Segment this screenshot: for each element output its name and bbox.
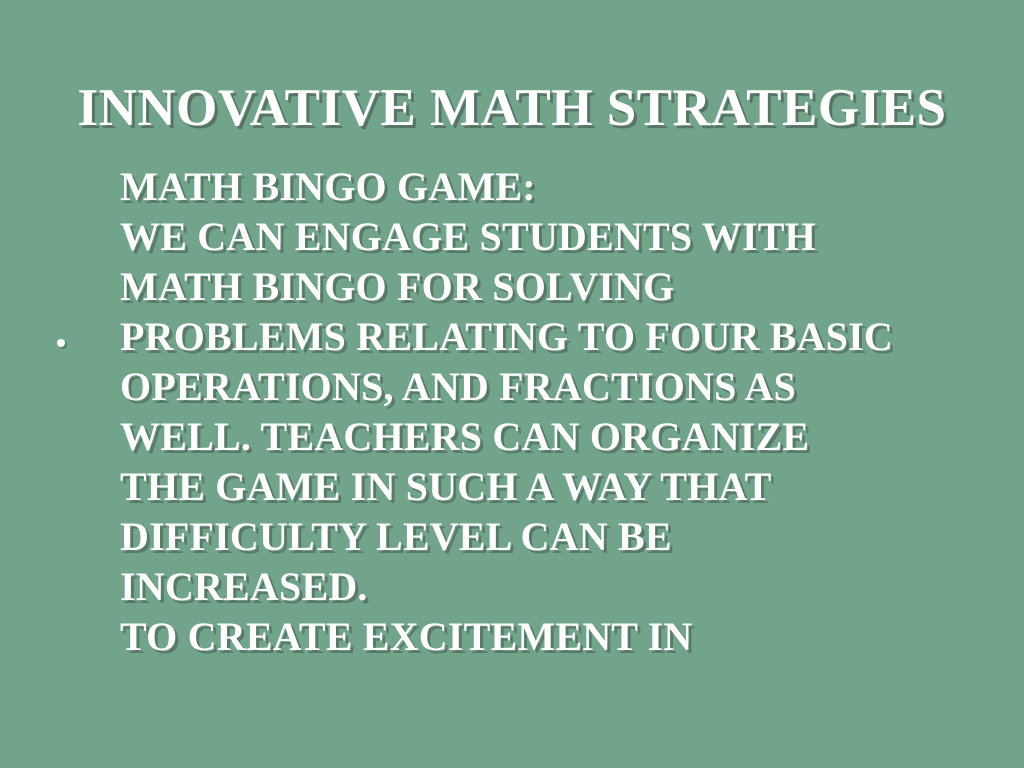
slide-body: MATH BINGO GAME: WE CAN ENGAGE STUDENTS … [0,162,1024,682]
body-text-lines: MATH BINGO GAME: WE CAN ENGAGE STUDENTS … [120,162,1010,662]
slide-title: INNOVATIVE MATH STRATEGIES [0,79,1024,137]
body-line: MATH BINGO GAME: [120,162,1010,212]
body-line: THE GAME IN SUCH A WAY THAT [120,462,1010,512]
body-line: OPERATIONS, AND FRACTIONS AS [120,362,1010,412]
body-line: WE CAN ENGAGE STUDENTS WITH [120,212,1010,262]
presentation-slide: INNOVATIVE MATH STRATEGIES MATH BINGO GA… [0,0,1024,768]
body-line: WELL. TEACHERS CAN ORGANIZE [120,412,1010,462]
body-line: TO CREATE EXCITEMENT IN [120,612,1010,662]
bullet-point-icon [57,339,65,347]
body-line: DIFFICULTY LEVEL CAN BE [120,512,1010,562]
body-line: INCREASED. [120,562,1010,612]
body-line: MATH BINGO FOR SOLVING [120,262,1010,312]
body-line: PROBLEMS RELATING TO FOUR BASIC [120,312,1010,362]
